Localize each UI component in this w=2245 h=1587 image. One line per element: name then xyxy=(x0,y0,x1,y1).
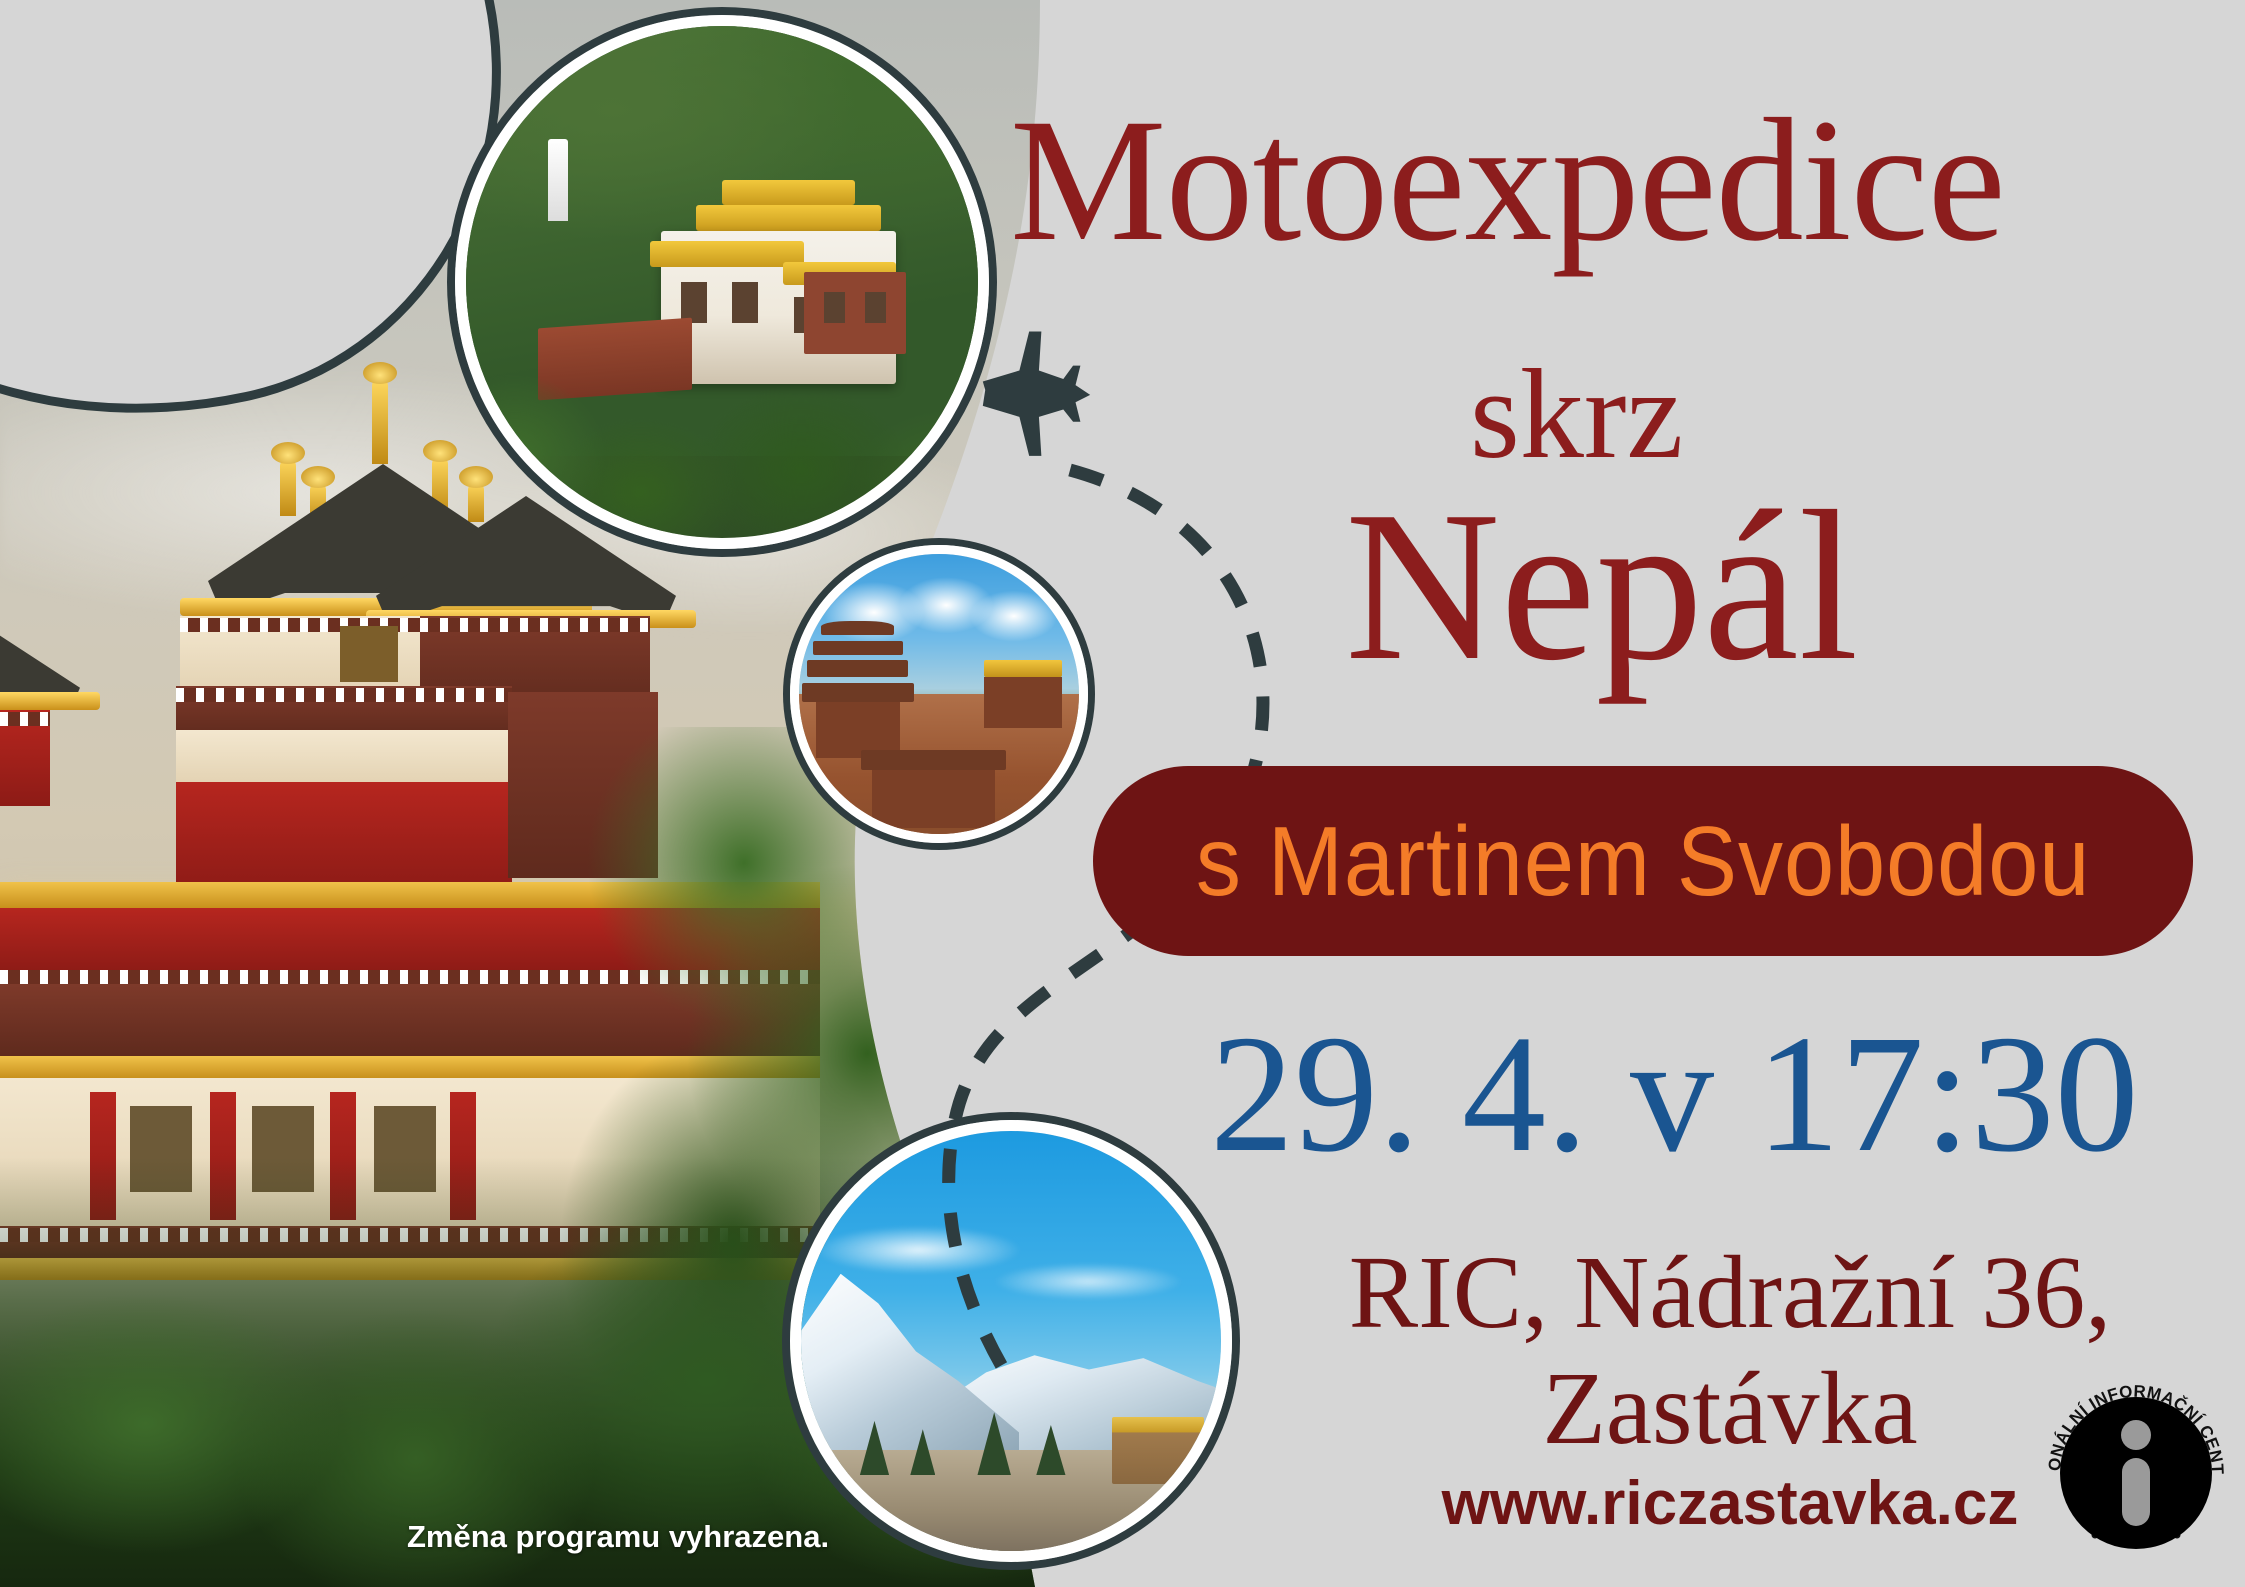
program-disclaimer: Změna programu vyhrazena. xyxy=(407,1519,829,1555)
bhaktapur-square-circle xyxy=(790,545,1088,843)
info-i-stem-icon xyxy=(2122,1458,2150,1526)
title-line-skrz: skrz xyxy=(1470,350,1683,478)
bhutan-dzong-circle xyxy=(455,15,989,549)
speaker-label: s Martinem Svobodou xyxy=(1196,805,2090,918)
speaker-badge: s Martinem Svobodou xyxy=(1093,766,2193,956)
poster-canvas: Motoexpedice skrz Nepál s Martinem Svobo… xyxy=(0,0,2245,1587)
dzong-image xyxy=(466,26,978,538)
ric-zastavka-logo: REGIONÁLNÍ INFORMAČNÍ CENTRUM ZASTÁVKA xyxy=(2038,1375,2234,1571)
venue-line-1: RIC, Nádražní 36, xyxy=(1290,1235,2170,1351)
page-title: Motoexpedice xyxy=(1010,100,2210,262)
bhaktapur-image xyxy=(799,554,1079,834)
title-line-nepal: Nepál xyxy=(1345,478,1858,693)
himalaya-image xyxy=(801,1131,1221,1551)
info-i-dot-icon xyxy=(2121,1420,2151,1450)
event-datetime: 29. 4. v 17:30 xyxy=(1210,1010,2210,1178)
himalaya-circle xyxy=(790,1120,1232,1562)
